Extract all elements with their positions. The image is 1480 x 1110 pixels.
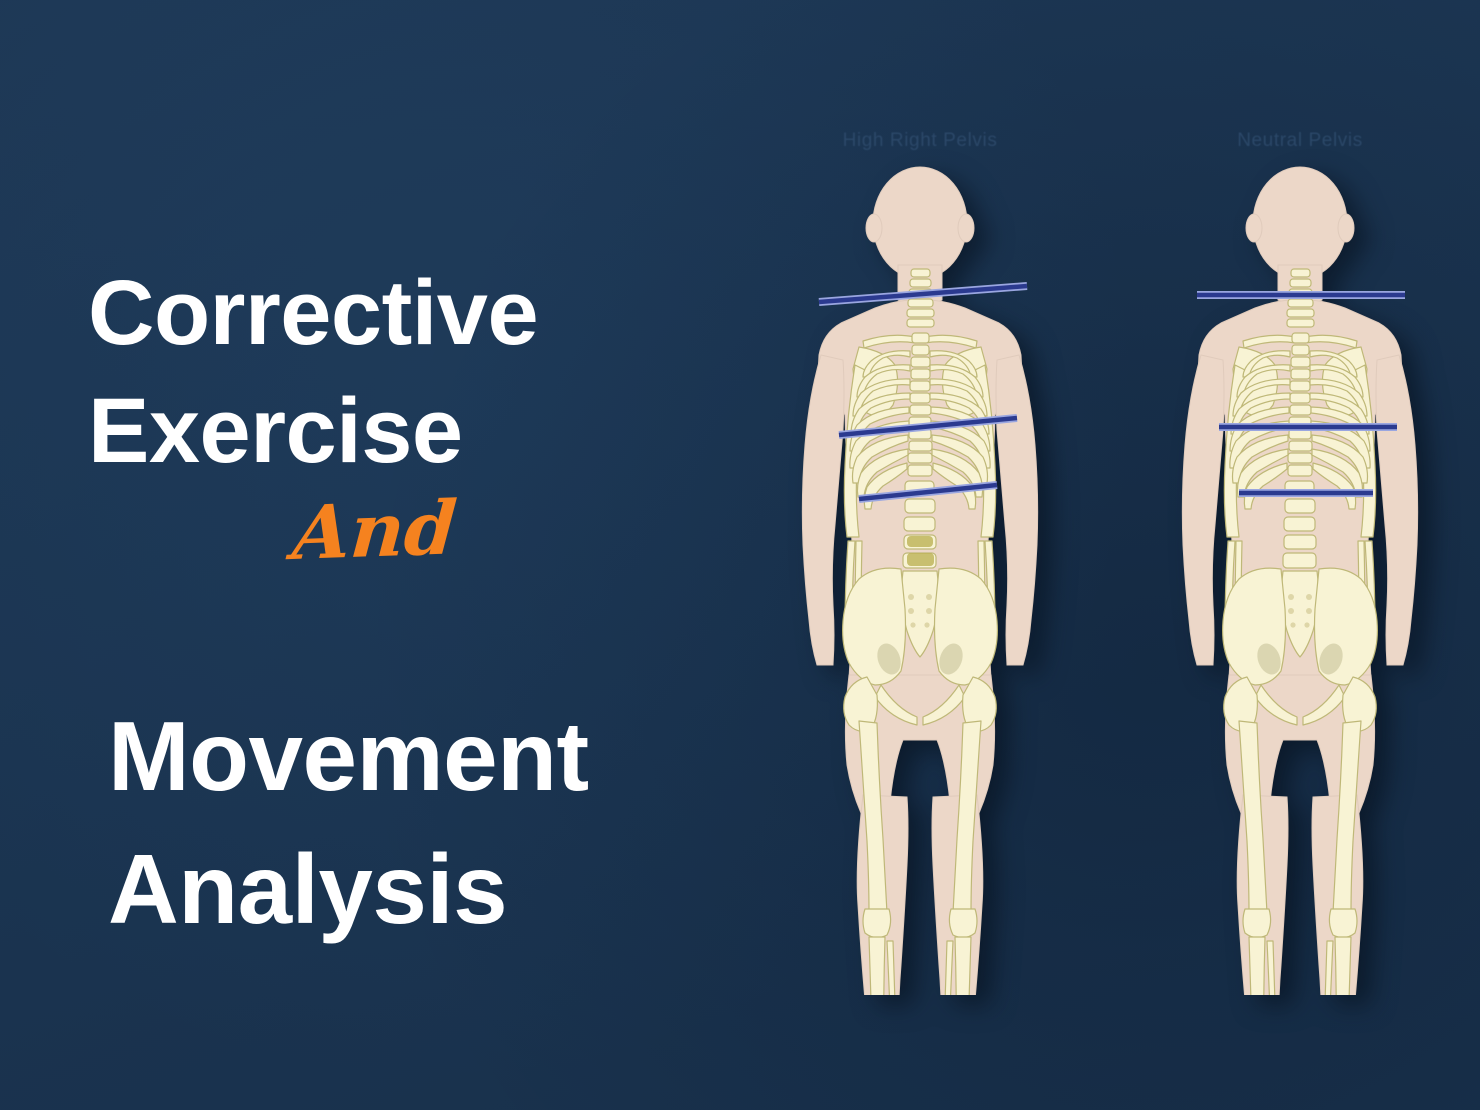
title-line-1: Corrective	[88, 255, 728, 373]
subtitle-block: Movement Analysis	[108, 690, 828, 957]
title-block: Corrective Exercise And	[88, 255, 728, 571]
title-line-3: Movement	[108, 690, 828, 823]
skeleton-body-illustration-right	[1135, 165, 1465, 995]
figure-neutral-pelvis: Neutral Pelvis	[1135, 110, 1465, 1010]
title-line-4: Analysis	[108, 823, 828, 956]
skeleton-body-illustration-left	[755, 165, 1085, 995]
anatomy-figures: High Right Pelvis	[735, 110, 1475, 1010]
presentation-slide: Corrective Exercise And Movement Analysi…	[0, 0, 1480, 1110]
figure-high-right-pelvis: High Right Pelvis	[755, 110, 1085, 1010]
title-line-2: Exercise	[88, 373, 728, 491]
figure-caption-left: High Right Pelvis	[755, 130, 1085, 152]
title-conjunction: And	[290, 481, 732, 570]
figure-caption-right: Neutral Pelvis	[1135, 130, 1465, 152]
